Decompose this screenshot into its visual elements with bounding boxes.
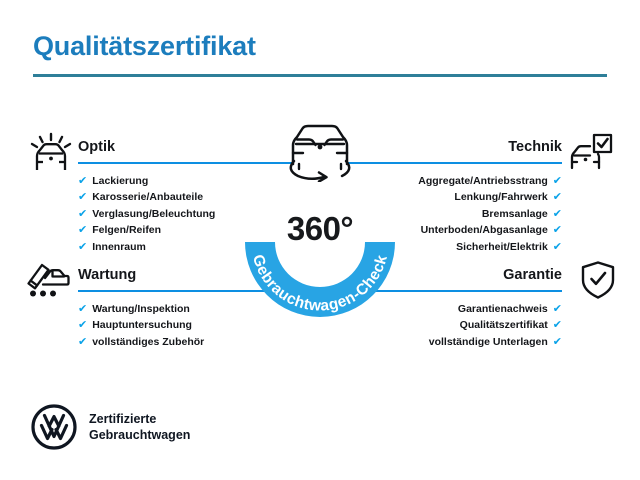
list-item-label: vollständige Unterlagen <box>429 336 548 348</box>
list-item-label: Innenraum <box>92 241 146 253</box>
header-divider <box>33 74 607 77</box>
list-item-label: Unterboden/Abgasanlage <box>421 224 548 236</box>
check-icon: ✔ <box>78 334 87 350</box>
badge-degrees-label: 360° <box>228 212 412 245</box>
footer-line-2: Gebrauchtwagen <box>89 427 190 443</box>
check-icon: ✔ <box>553 301 562 317</box>
list-item: vollständige Unterlagen✔ <box>334 334 562 350</box>
list-item-label: Karosserie/Anbauteile <box>92 191 203 203</box>
footer-line-1: Zertifizierte <box>89 411 190 427</box>
quality-certificate-page: Qualitätszertifikat Optik ✔La <box>0 0 640 480</box>
check-icon: ✔ <box>553 173 562 189</box>
check-icon: ✔ <box>553 334 562 350</box>
check-icon: ✔ <box>553 239 562 255</box>
header: Qualitätszertifikat <box>33 32 607 77</box>
list-item-label: Aggregate/Antriebsstrang <box>418 175 548 187</box>
list-item-label: Wartung/Inspektion <box>92 303 190 315</box>
list-item: ✔vollständiges Zubehör <box>78 334 306 350</box>
check-icon: ✔ <box>553 317 562 333</box>
list-item-label: Sicherheit/Elektrik <box>456 241 548 253</box>
list-item-label: Qualitätszertifikat <box>460 319 548 331</box>
car-shine-icon <box>28 132 74 172</box>
list-item-label: Verglasung/Beleuchtung <box>92 208 215 220</box>
check-icon: ✔ <box>78 301 87 317</box>
check-icon: ✔ <box>78 317 87 333</box>
check-icon: ✔ <box>78 173 87 189</box>
check-icon: ✔ <box>553 222 562 238</box>
car-checkbox-icon <box>568 132 614 172</box>
list-item-label: Hauptuntersuchung <box>92 319 192 331</box>
list-item-label: Bremsanlage <box>482 208 548 220</box>
volkswagen-logo <box>31 404 77 450</box>
check-icon: ✔ <box>553 189 562 205</box>
check-icon: ✔ <box>553 206 562 222</box>
list-item-label: vollständiges Zubehör <box>92 336 204 348</box>
list-item-label: Lenkung/Fahrwerk <box>454 191 547 203</box>
check-icon: ✔ <box>78 239 87 255</box>
footer-brand-text: Zertifizierte Gebrauchtwagen <box>89 411 190 443</box>
list-item-label: Lackierung <box>92 175 148 187</box>
check-icon: ✔ <box>78 222 87 238</box>
list-item-label: Garantienachweis <box>458 303 548 315</box>
list-item-label: Felgen/Reifen <box>92 224 161 236</box>
check-icon: ✔ <box>78 189 87 205</box>
car-pencil-icon <box>25 259 71 299</box>
footer-brand-lockup: Zertifizierte Gebrauchtwagen <box>31 404 190 450</box>
shield-check-icon <box>575 260 621 300</box>
check-icon: ✔ <box>78 206 87 222</box>
car-front-rotate-icon <box>276 120 364 182</box>
page-title: Qualitätszertifikat <box>33 32 607 62</box>
